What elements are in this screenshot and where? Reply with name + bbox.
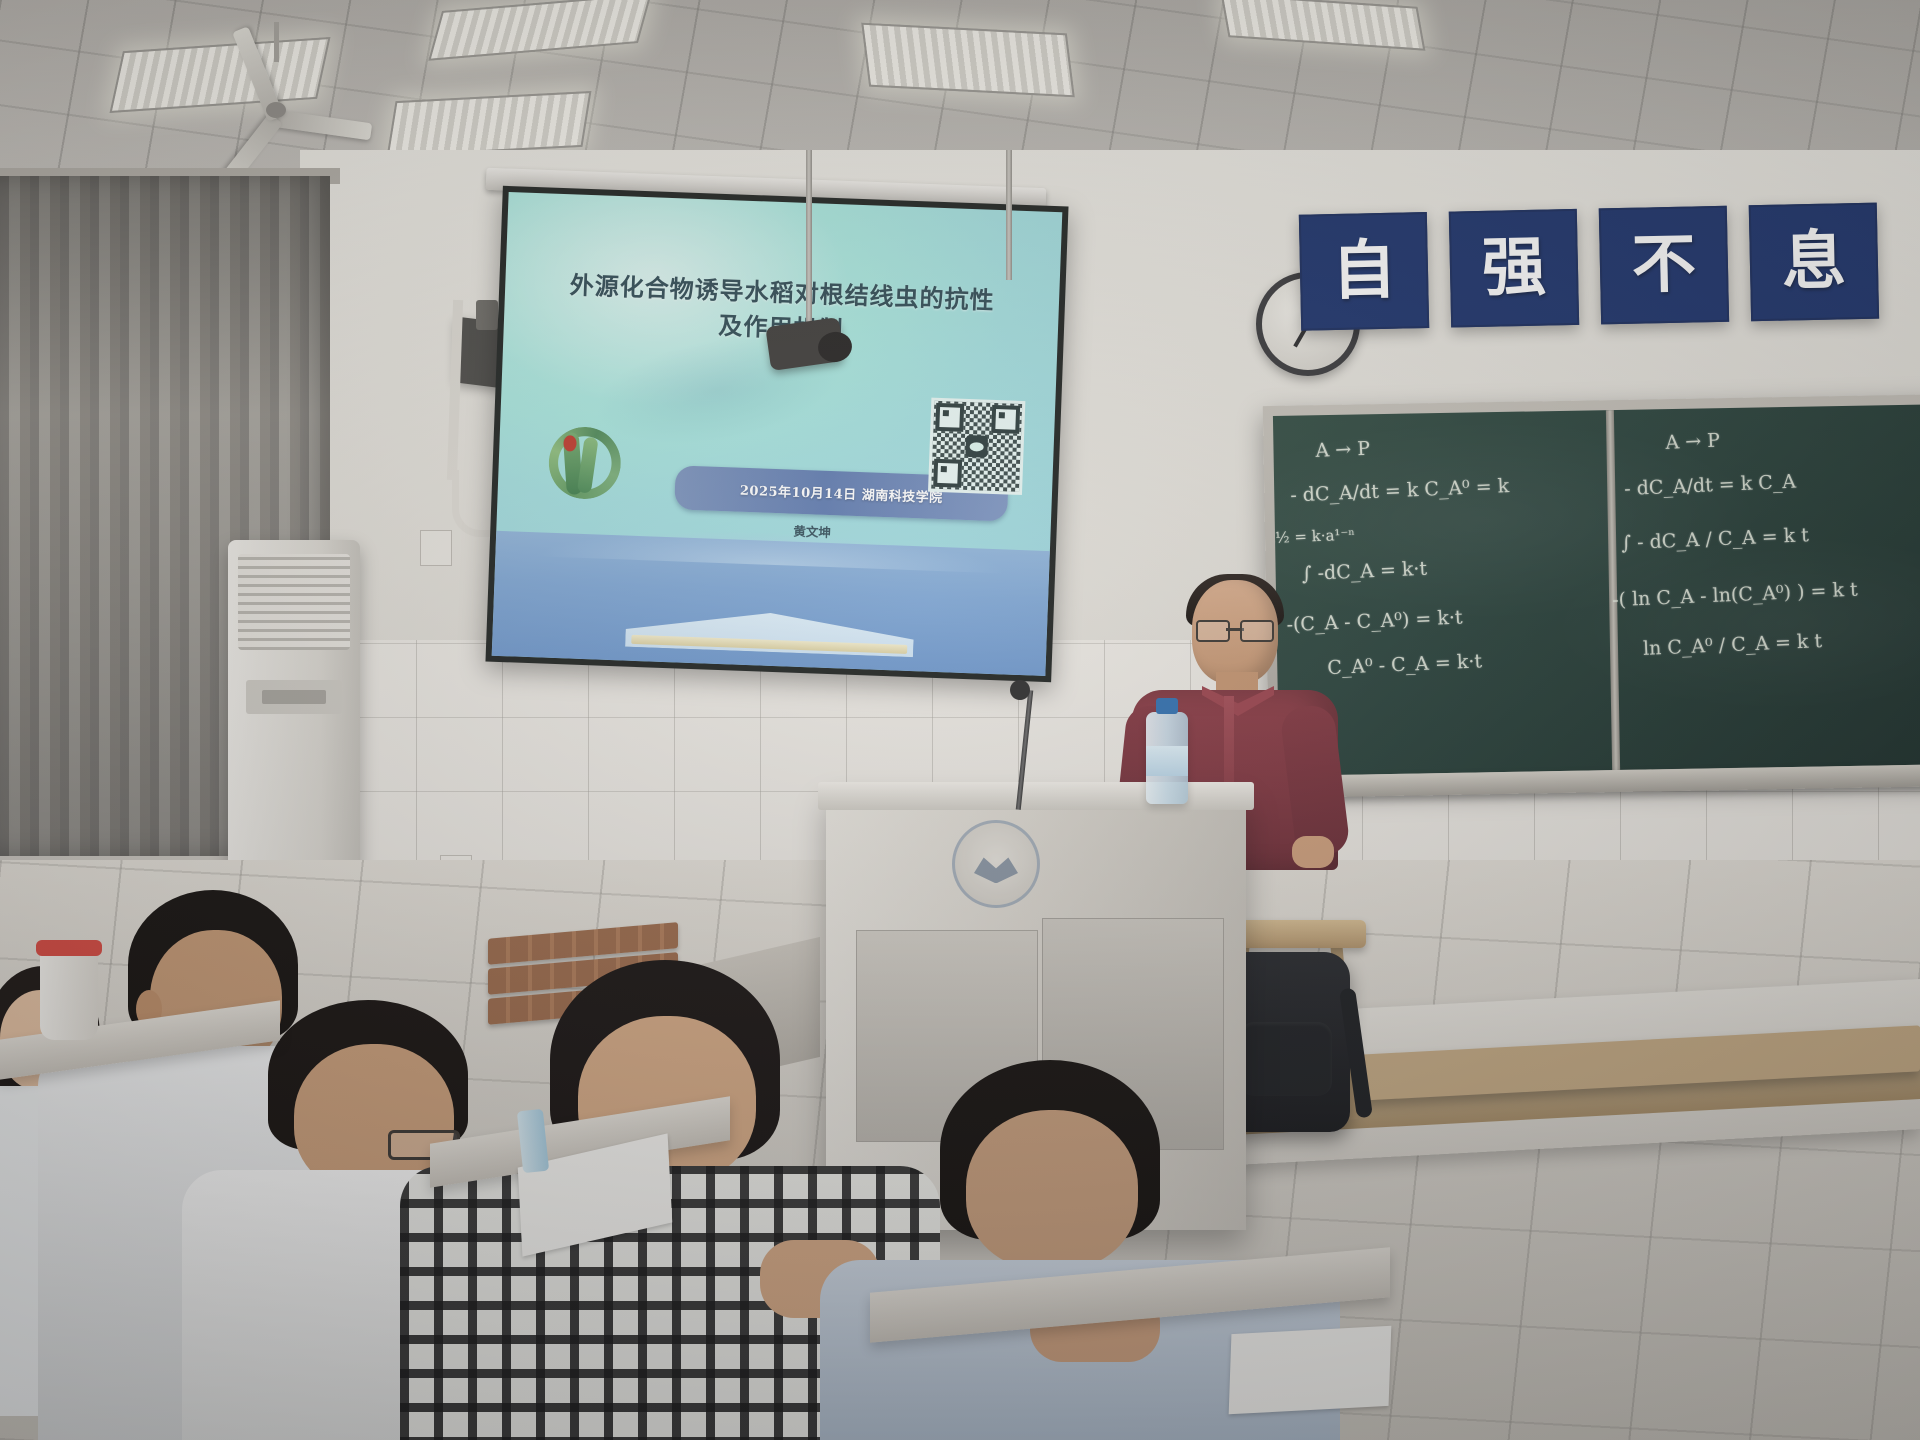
microphone-head-icon	[1010, 680, 1030, 700]
wall-motto-banner: 自 强 不 息	[1299, 201, 1920, 334]
presenter-glasses-icon	[1196, 620, 1274, 638]
slide-banner-text: 2025年10月14日 湖南科技学院	[740, 480, 943, 506]
slide-footer-band	[492, 531, 1050, 676]
ceiling-light-panel	[387, 91, 592, 157]
chalk-equation: t½ = k·a¹⁻ⁿ	[1273, 525, 1355, 547]
ceiling-light-panel	[861, 23, 1075, 98]
projector-mount-rod	[806, 150, 812, 330]
chalk-equation: A → P	[1315, 438, 1370, 462]
drink-cup	[40, 950, 98, 1040]
classroom-photo: 湖南科技学院 外源化合物诱导水稻对根结线虫的抗性 及作用机制 2025年10月1…	[0, 0, 1920, 1440]
water-bottle	[1146, 712, 1188, 804]
ac-vent-icon	[238, 554, 350, 650]
wall-speaker-bracket	[476, 300, 498, 330]
student-head	[966, 1110, 1138, 1270]
university-emblem-icon	[952, 820, 1040, 908]
motto-char-3: 不	[1599, 206, 1729, 325]
blackboard: A → P - dC_A/dt = k C_A⁰ = k t½ = k·a¹⁻ⁿ…	[1263, 394, 1920, 786]
ceiling-fan-icon	[196, 56, 356, 164]
paper-handout	[1229, 1326, 1392, 1415]
chalk-equation: A → P	[1665, 429, 1720, 453]
podium-desktop	[818, 782, 1254, 810]
motto-char-2: 强	[1449, 209, 1579, 328]
projector-mount-rod	[1006, 150, 1012, 280]
ac-brand-logo	[262, 690, 326, 704]
presenter-hand	[1292, 836, 1334, 868]
air-conditioner	[228, 540, 360, 870]
institute-logo-icon	[547, 426, 622, 501]
projection-screen: 外源化合物诱导水稻对根结线虫的抗性 及作用机制 2025年10月14日 湖南科技…	[485, 186, 1068, 682]
light-switch[interactable]	[420, 530, 452, 566]
list-item	[880, 1060, 1280, 1440]
wechat-qr-code-icon	[928, 398, 1025, 495]
motto-char-4: 息	[1749, 203, 1879, 322]
motto-char-1: 自	[1299, 212, 1429, 331]
